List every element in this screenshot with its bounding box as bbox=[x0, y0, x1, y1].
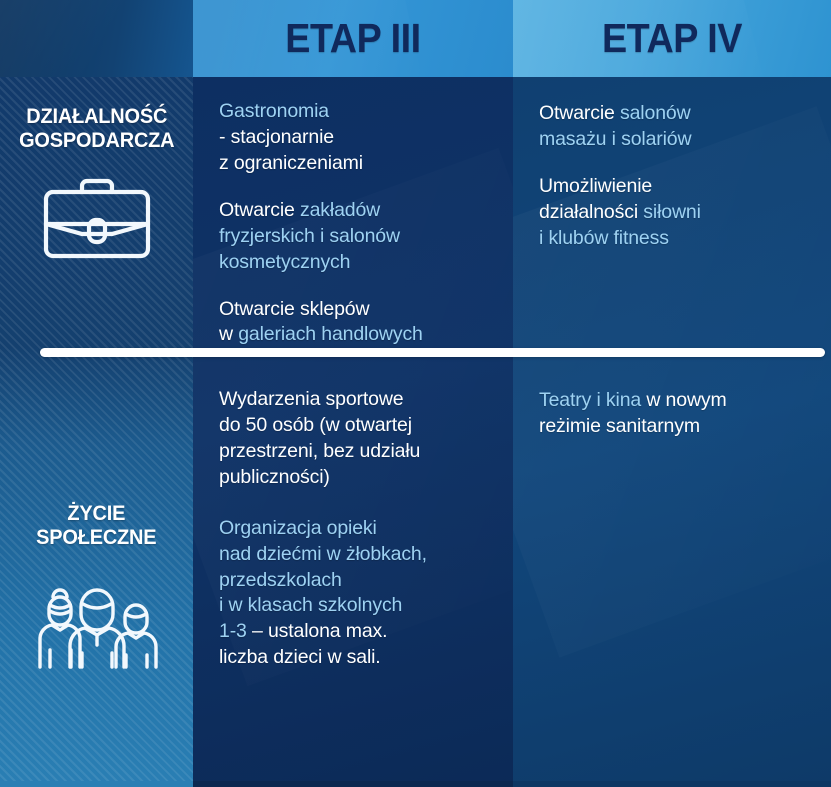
category-social-label: ŻYCIE SPOŁECZNE bbox=[36, 502, 156, 551]
category-business-label: DZIAŁALNOŚĆ GOSPODARCZA bbox=[19, 105, 174, 154]
bottom-trim-stage3 bbox=[193, 781, 513, 787]
stage-3-business-item-1: Gastronomia- stacjonarniez ograniczeniam… bbox=[219, 99, 497, 177]
stage-4-business-item-1: Otwarcie salonówmasażu i solariów bbox=[539, 101, 815, 153]
header-blank-cell bbox=[0, 0, 193, 77]
body-grid: DZIAŁALNOŚĆ GOSPODARCZA ŻYCIE bbox=[0, 77, 831, 787]
briefcase-icon bbox=[38, 172, 156, 269]
category-social-label-line2: SPOŁECZNE bbox=[36, 526, 156, 549]
bottom-trim-rail bbox=[0, 781, 193, 787]
stage-3-title: ETAP III bbox=[206, 0, 500, 77]
stage-4-business-cell: Otwarcie salonówmasażu i solariów Umożli… bbox=[513, 77, 831, 352]
stage-3-column: Gastronomia- stacjonarniez ograniczeniam… bbox=[193, 77, 513, 787]
bottom-trim bbox=[0, 781, 831, 787]
header-stage-3: ETAP III bbox=[193, 0, 513, 77]
category-business-label-line2: GOSPODARCZA bbox=[19, 129, 174, 152]
category-business: DZIAŁALNOŚĆ GOSPODARCZA bbox=[0, 77, 193, 380]
stage-4-column: Otwarcie salonówmasażu i solariów Umożli… bbox=[513, 77, 831, 787]
stage-4-business-item-2: Umożliwieniedziałalności siłownii klubów… bbox=[539, 174, 815, 252]
infographic-root: ETAP III ETAP IV DZIAŁALNOŚĆ GOSPODARCZA bbox=[0, 0, 831, 787]
stage-3-business-cell: Gastronomia- stacjonarniez ograniczeniam… bbox=[193, 77, 513, 352]
category-social: ŻYCIE SPOŁECZNE bbox=[0, 380, 193, 787]
stage-4-social-item-1: Teatry i kina w nowymreżimie sanitarnym bbox=[539, 388, 815, 440]
stage-4-title: ETAP IV bbox=[526, 0, 819, 77]
stage-3-social-item-2: Organizacja opiekinad dziećmi w żłobkach… bbox=[219, 516, 497, 672]
bottom-trim-stage4 bbox=[513, 781, 831, 787]
category-business-label-line1: DZIAŁALNOŚĆ bbox=[26, 105, 167, 128]
stage-3-business-item-2: Otwarcie zakładówfryzjerskich i salonówk… bbox=[219, 198, 497, 276]
category-social-label-line1: ŻYCIE bbox=[68, 502, 126, 525]
header-row: ETAP III ETAP IV bbox=[0, 0, 831, 77]
section-divider bbox=[40, 348, 825, 357]
three-people-icon bbox=[31, 575, 163, 680]
stage-3-business-item-3: Otwarcie sklepóww galeriach handlowych bbox=[219, 297, 497, 349]
header-stage-4: ETAP IV bbox=[513, 0, 831, 77]
stage-3-social-cell: Wydarzenia sportowedo 50 osób (w otwarte… bbox=[193, 352, 513, 787]
category-rail: DZIAŁALNOŚĆ GOSPODARCZA ŻYCIE bbox=[0, 77, 193, 787]
stage-4-social-cell: Teatry i kina w nowymreżimie sanitarnym bbox=[513, 352, 831, 787]
stage-3-social-item-1: Wydarzenia sportowedo 50 osób (w otwarte… bbox=[219, 387, 497, 491]
